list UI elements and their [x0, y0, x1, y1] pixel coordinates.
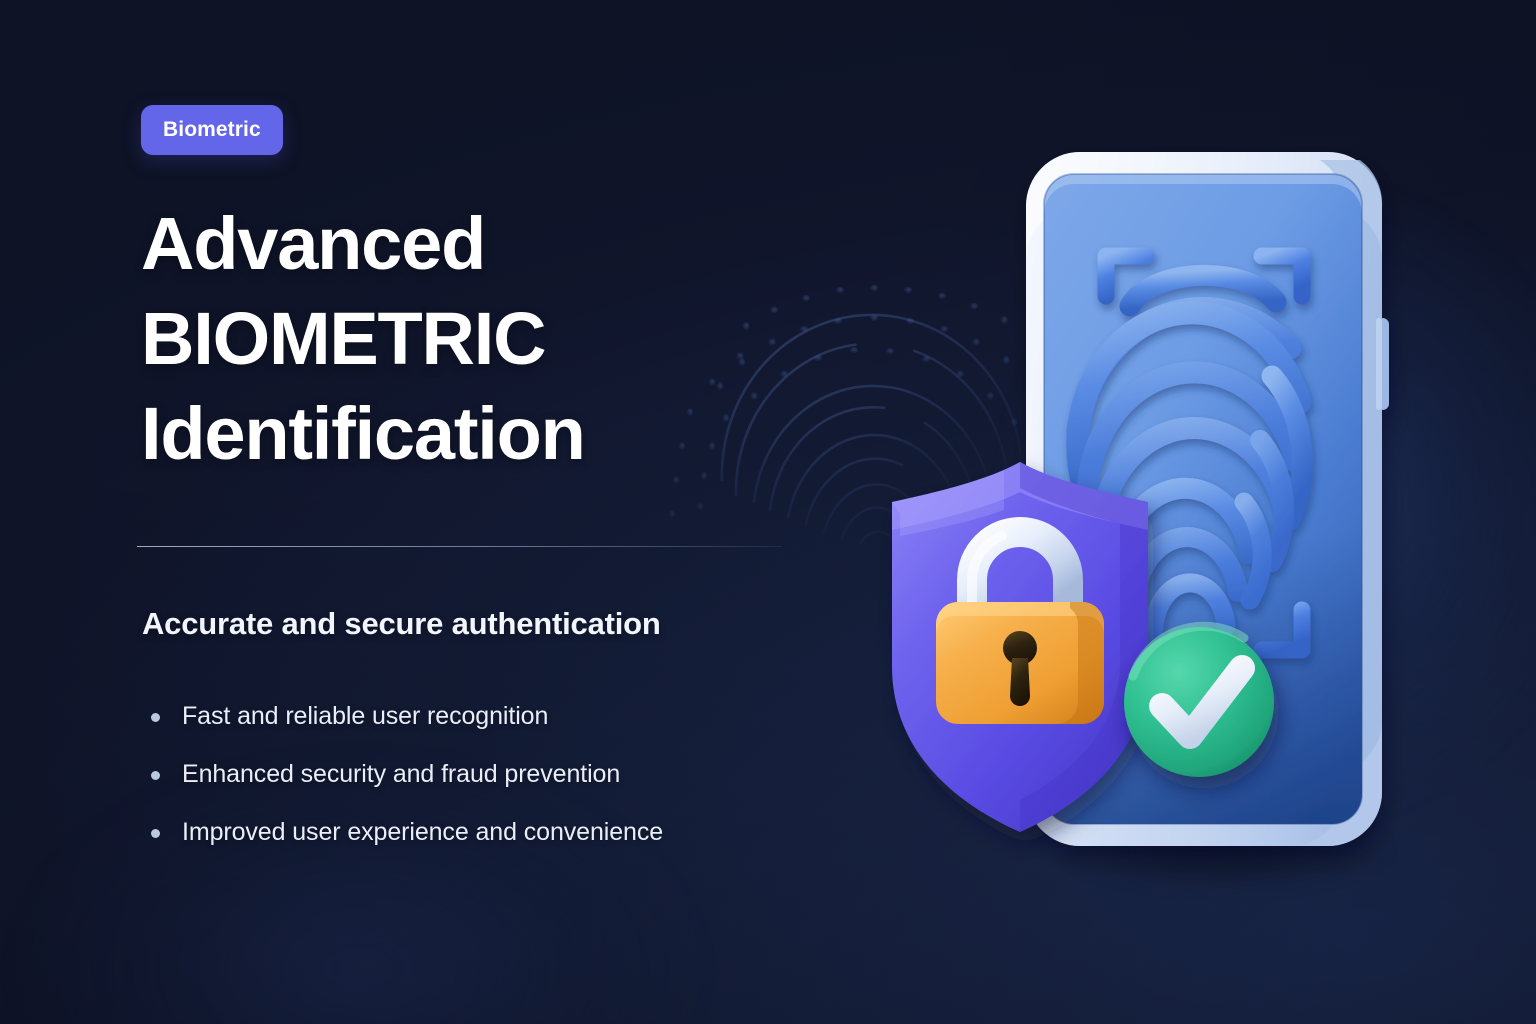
check-circle-icon [1124, 626, 1274, 777]
list-item-label: Enhanced security and fraud prevention [182, 760, 620, 789]
section-divider [137, 546, 782, 547]
bullet-dot-icon [151, 829, 160, 838]
list-item: Enhanced security and fraud prevention [148, 745, 868, 803]
list-item-label: Fast and reliable user recognition [182, 702, 548, 731]
page-title-line-2: BIOMETRIC [141, 291, 841, 386]
category-badge-label: Biometric [163, 118, 261, 142]
list-item: Improved user experience and convenience [148, 803, 868, 861]
page-title-line-1: Advanced [141, 196, 841, 291]
list-item-label: Improved user experience and convenience [182, 818, 663, 847]
biometric-hero-slide: Biometric Advanced BIOMETRIC Identificat… [0, 0, 1536, 1024]
list-item: Fast and reliable user recognition [148, 687, 868, 745]
bullet-dot-icon [151, 771, 160, 780]
biometric-illustration [820, 110, 1480, 910]
feature-list: Fast and reliable user recognition Enhan… [148, 687, 868, 861]
page-title-line-3: Identification [141, 386, 841, 481]
subheading: Accurate and secure authentication [142, 606, 661, 642]
bullet-dot-icon [151, 713, 160, 722]
category-badge[interactable]: Biometric [141, 105, 283, 155]
page-title: Advanced BIOMETRIC Identification [141, 196, 841, 481]
